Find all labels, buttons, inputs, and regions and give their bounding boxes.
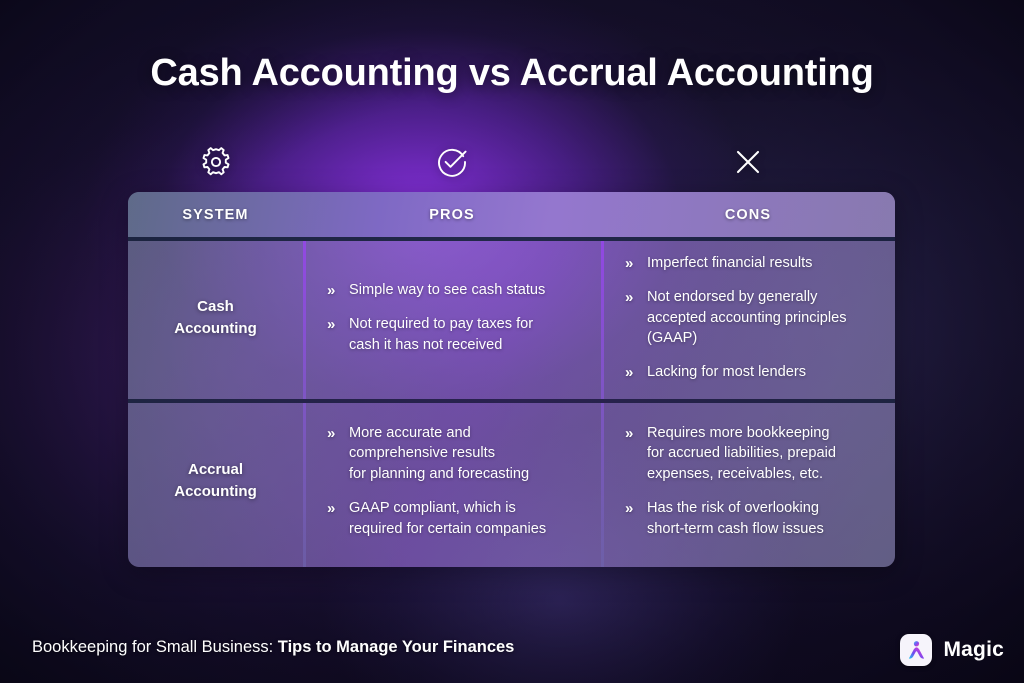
list-item: » Requires more bookkeeping for accrued … [625, 423, 879, 485]
chevron-bullet-icon: » [327, 423, 349, 444]
list-item-text: GAAP compliant, which is required for ce… [349, 498, 585, 539]
chevron-bullet-icon: » [327, 498, 349, 519]
cell-system-1: Accrual Accounting [128, 399, 303, 563]
brand-name: Magic [943, 638, 1004, 662]
chevron-bullet-icon: » [327, 280, 349, 301]
cell-pros-1: » More accurate and comprehensive result… [303, 399, 601, 563]
list-item: » Lacking for most lenders [625, 362, 879, 383]
list-item: » Imperfect financial results [625, 253, 879, 274]
list-item-text: Not endorsed by generally accepted accou… [647, 287, 879, 349]
list-item-text: More accurate and comprehensive results … [349, 423, 585, 485]
list-item: » Has the risk of overlooking short-term… [625, 498, 879, 539]
infographic-canvas: Cash Accounting vs Accrual Accounting SY… [0, 0, 1024, 683]
cell-cons-0: » Imperfect financial results » Not endo… [601, 237, 895, 399]
footer-lead: Bookkeeping for Small Business: [32, 638, 278, 656]
column-header-pros: PROS [303, 192, 601, 237]
cons-list-0: » Imperfect financial results » Not endo… [601, 253, 895, 384]
table-row: Accrual Accounting » More accurate and c… [128, 399, 895, 563]
list-item: » More accurate and comprehensive result… [327, 423, 585, 485]
system-label: Accrual Accounting [174, 459, 257, 503]
list-item-text: Imperfect financial results [647, 253, 879, 274]
check-circle-icon [303, 140, 601, 184]
column-divider-1 [303, 241, 306, 567]
column-header-cons: CONS [601, 192, 895, 237]
pros-list-0: » Simple way to see cash status » Not re… [303, 280, 601, 356]
chevron-bullet-icon: » [625, 287, 647, 308]
close-x-icon [601, 140, 895, 184]
table-header-row: SYSTEM PROS CONS [128, 192, 895, 237]
list-item-text: Requires more bookkeeping for accrued li… [647, 423, 879, 485]
chevron-bullet-icon: » [625, 362, 647, 383]
chevron-bullet-icon: » [625, 423, 647, 444]
chevron-bullet-icon: » [625, 498, 647, 519]
list-item: » GAAP compliant, which is required for … [327, 498, 585, 539]
list-item-text: Simple way to see cash status [349, 280, 585, 301]
footer-emphasis: Tips to Manage Your Finances [278, 638, 515, 656]
brand-logo: Magic [900, 634, 1004, 666]
icon-row [128, 140, 895, 184]
page-title: Cash Accounting vs Accrual Accounting [0, 52, 1024, 95]
list-item-text: Lacking for most lenders [647, 362, 879, 383]
chevron-bullet-icon: » [625, 253, 647, 274]
list-item-text: Not required to pay taxes for cash it ha… [349, 314, 585, 355]
row-divider [128, 399, 895, 403]
list-item: » Not endorsed by generally accepted acc… [625, 287, 879, 349]
gear-icon [128, 140, 303, 184]
list-item-text: Has the risk of overlooking short-term c… [647, 498, 879, 539]
footer-caption: Bookkeeping for Small Business: Tips to … [32, 639, 514, 656]
column-header-system: SYSTEM [128, 192, 303, 237]
comparison-table: SYSTEM PROS CONS Cash Accounting » Simpl… [128, 192, 895, 567]
list-item: » Not required to pay taxes for cash it … [327, 314, 585, 355]
column-divider-2 [601, 241, 604, 567]
cell-pros-0: » Simple way to see cash status » Not re… [303, 237, 601, 399]
cell-cons-1: » Requires more bookkeeping for accrued … [601, 399, 895, 563]
cell-system-0: Cash Accounting [128, 237, 303, 399]
cons-list-1: » Requires more bookkeeping for accrued … [601, 423, 895, 540]
chevron-bullet-icon: » [327, 314, 349, 335]
table-row: Cash Accounting » Simple way to see cash… [128, 237, 895, 399]
pros-list-1: » More accurate and comprehensive result… [303, 423, 601, 540]
system-label: Cash Accounting [174, 296, 257, 340]
header-divider [128, 237, 895, 241]
magic-logo-icon [900, 634, 932, 666]
list-item: » Simple way to see cash status [327, 280, 585, 301]
